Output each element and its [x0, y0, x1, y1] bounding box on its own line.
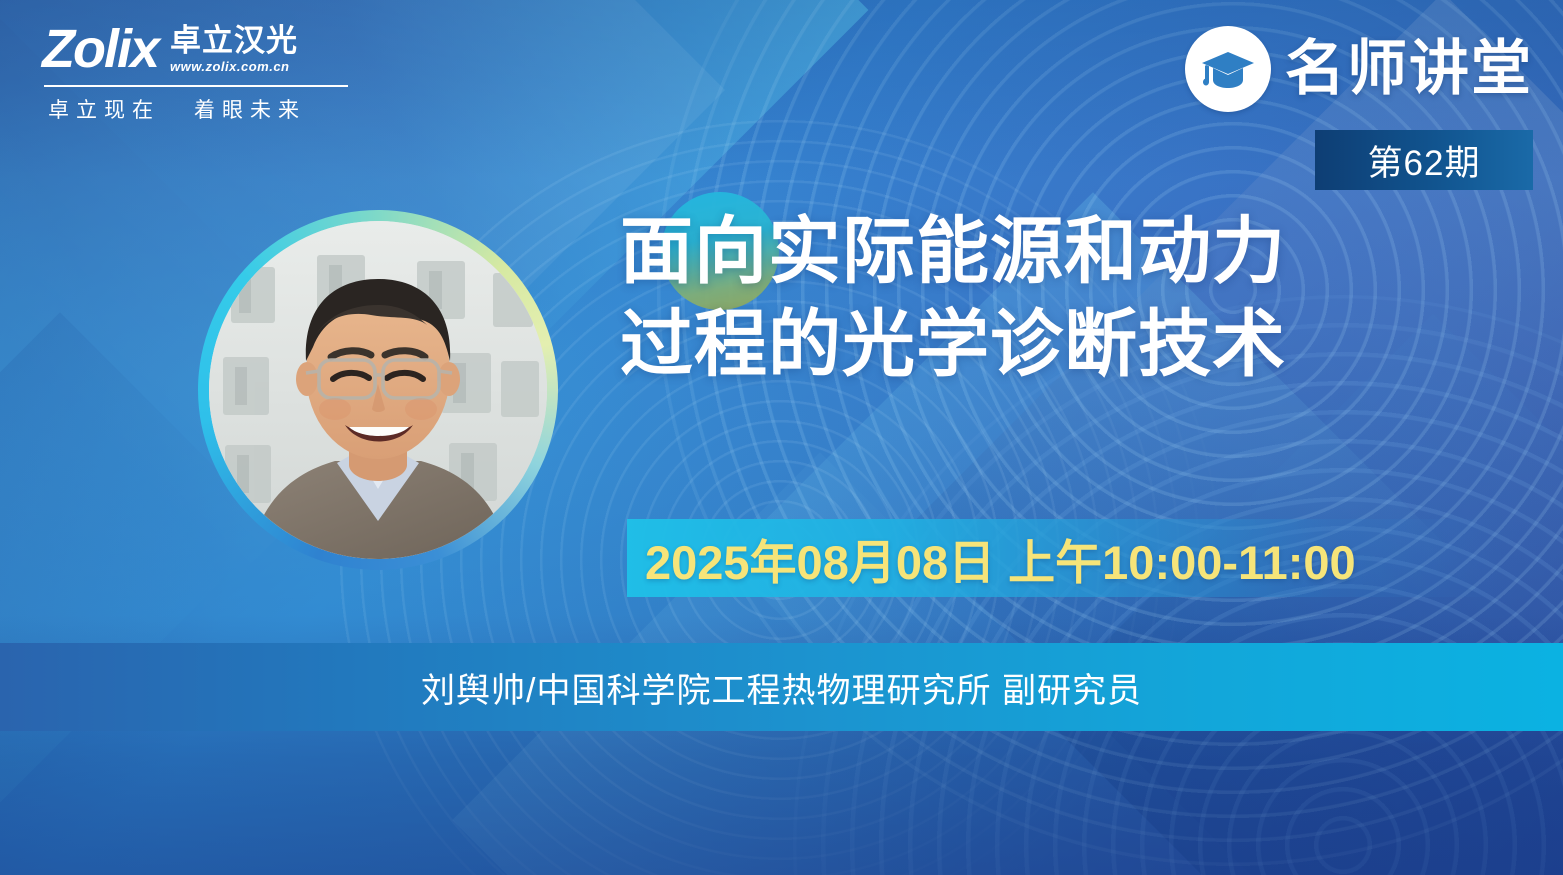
logo-chinese-name: 卓立汉光	[170, 25, 298, 58]
lecture-title-line-2: 过程的光学诊断技术	[620, 298, 1500, 391]
graduation-cap-icon	[1185, 26, 1271, 112]
series-title: 名师讲堂	[1285, 39, 1533, 99]
series-title-row: 名师讲堂	[1185, 26, 1533, 112]
episode-badge: 第62期	[1315, 130, 1533, 190]
datetime-text: 2025年08月08日 上午10:00-11:00	[627, 524, 1356, 593]
lecture-title-line-1: 面向实际能源和动力	[620, 205, 1500, 298]
speaker-info-bar: 刘舆帅/中国科学院工程热物理研究所 副研究员	[0, 643, 1563, 731]
logo-chinese-block: 卓立汉光 www.zolix.com.cn	[170, 25, 298, 76]
company-logo: Zolix 卓立汉光 www.zolix.com.cn 卓立现在 着眼未来	[42, 22, 352, 124]
speaker-photo	[209, 221, 547, 559]
series-branding: 名师讲堂 第62期	[1185, 26, 1533, 190]
speaker-portrait	[198, 210, 558, 570]
episode-badge-label: 第62期	[1368, 135, 1481, 186]
datetime-bar: 2025年08月08日 上午10:00-11:00	[627, 519, 1507, 597]
zolix-wordmark: Zolix	[42, 22, 158, 76]
logo-divider	[44, 85, 348, 87]
speaker-info-text: 刘舆帅/中国科学院工程热物理研究所 副研究员	[421, 663, 1142, 712]
slogan-left-text: 卓立现在	[48, 94, 160, 124]
logo-website-url: www.zolix.com.cn	[170, 59, 289, 74]
lecture-title: 面向实际能源和动力 过程的光学诊断技术	[620, 205, 1500, 392]
logo-row: Zolix 卓立汉光 www.zolix.com.cn	[42, 22, 352, 76]
slogan-right-text: 着眼未来	[194, 94, 306, 124]
webinar-poster: Zolix 卓立汉光 www.zolix.com.cn 卓立现在 着眼未来	[0, 0, 1563, 875]
logo-slogan: 卓立现在 着眼未来	[42, 94, 352, 124]
